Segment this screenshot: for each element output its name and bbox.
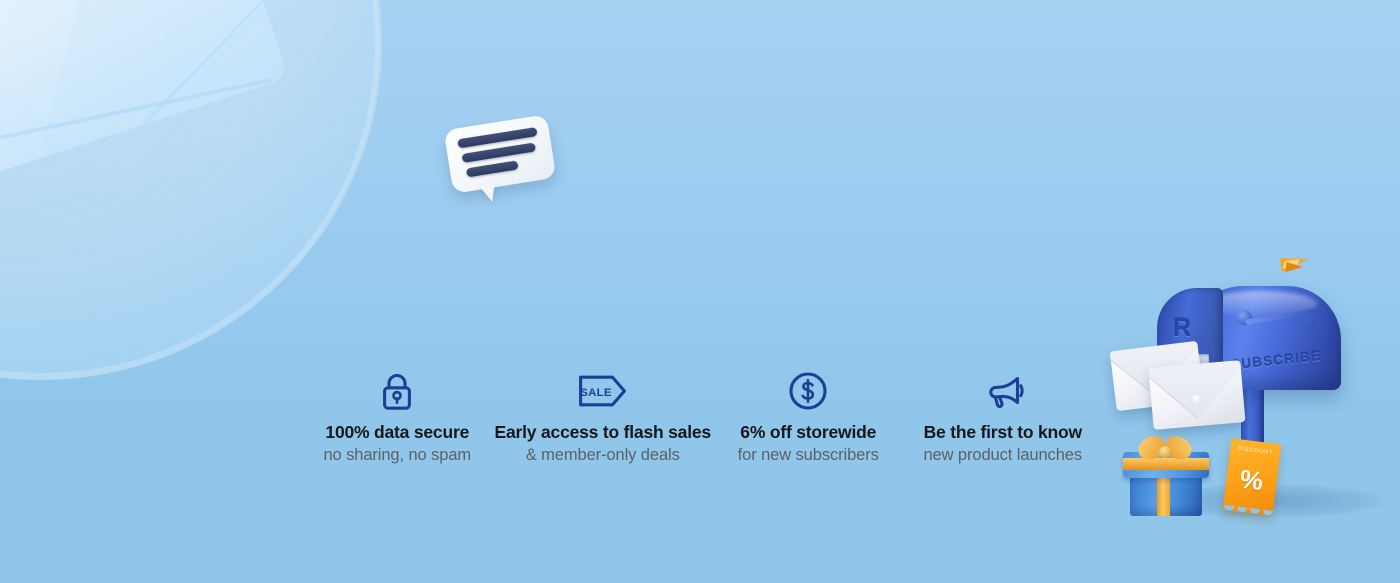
feature-item-discount: 6% off storewide for new subscribers (711, 370, 906, 467)
mailbox-illustration: R SUBSCRIBE DISCOUNT % (1095, 238, 1400, 538)
coupon-header-text: DISCOUNT (1230, 445, 1280, 457)
gift-box-illustration (1123, 438, 1209, 514)
feature-item-flash-sales: SALE Early access to flash sales & membe… (495, 370, 711, 467)
envelope-illustration-front (1148, 360, 1245, 430)
paper-plane-icon (1281, 254, 1311, 276)
megaphone-icon (981, 370, 1025, 412)
gift-ribbon-horizontal (1123, 458, 1209, 470)
feature-subtitle: for new subscribers (738, 445, 879, 466)
discount-coupon-illustration: DISCOUNT % (1223, 438, 1281, 516)
gift-bow-knot (1159, 446, 1172, 458)
paper-plane-wing-bottom (1286, 262, 1304, 274)
chat-bubble-illustration (444, 114, 557, 193)
svg-text:SALE: SALE (580, 387, 612, 399)
chat-bubble-tail (479, 183, 498, 203)
coupon-percent-symbol: % (1225, 462, 1278, 499)
feature-title: 6% off storewide (740, 422, 876, 442)
feature-item-first-to-know: Be the first to know new product launche… (905, 370, 1100, 467)
sale-tag-icon: SALE (578, 370, 628, 412)
feature-title: Early access to flash sales (495, 422, 711, 442)
dollar-circle-icon (788, 370, 828, 412)
feature-subtitle: no sharing, no spam (323, 445, 471, 466)
newsletter-hero-banner: 100% data secure no sharing, no spam SAL… (0, 0, 1400, 583)
feature-subtitle: new product launches (923, 445, 1082, 466)
feature-title: 100% data secure (325, 422, 469, 442)
feature-title: Be the first to know (924, 422, 1082, 442)
lock-icon (380, 370, 414, 412)
feature-subtitle: & member-only deals (526, 445, 680, 466)
feature-list: 100% data secure no sharing, no spam SAL… (300, 370, 1100, 467)
mailbox-logo-letter: R (1173, 314, 1190, 343)
feature-item-data-secure: 100% data secure no sharing, no spam (300, 370, 495, 467)
